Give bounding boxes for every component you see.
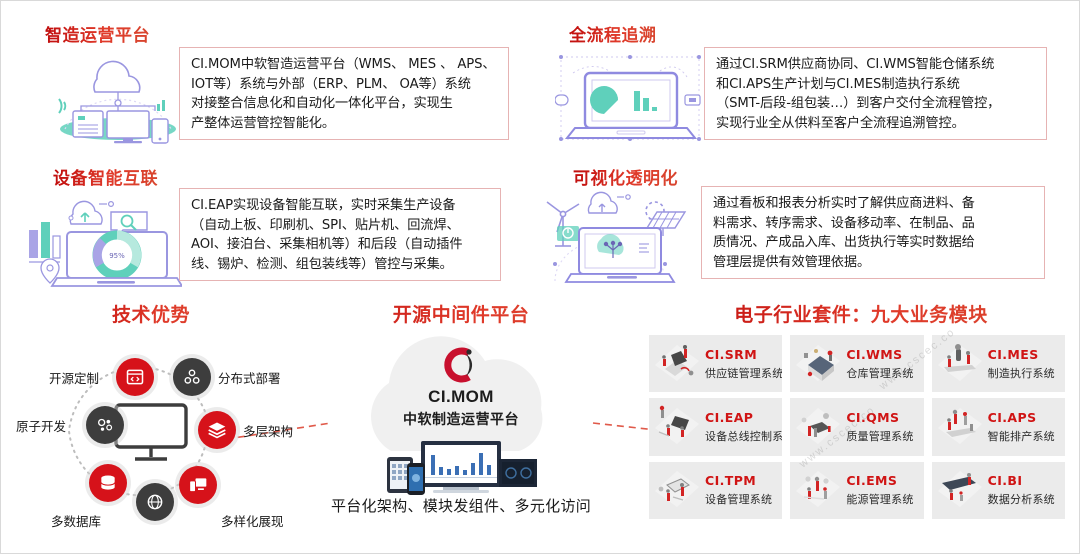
feature-text-line: 通过看板和报表分析实时了解供应商进料、备 <box>713 194 1035 214</box>
nodes-cluster-icon <box>182 367 202 387</box>
devices-mockup <box>381 431 541 503</box>
tech-node-diversified-presentation[interactable] <box>179 466 217 504</box>
module-code: CI.MES <box>988 347 1055 362</box>
tech-node-label: 分布式部署 <box>218 368 281 387</box>
module-card-ems[interactable]: CI.EMS 能源管理系统 <box>790 462 923 519</box>
tech-node-multi-database[interactable] <box>89 464 127 502</box>
feature-text-line: AOI、接泊台、采集相机等）和后段（自动插件 <box>191 235 491 255</box>
globe-icon <box>145 492 165 512</box>
middleware-cloud-block: CI.MOM 中软制造运营平台 <box>331 331 591 506</box>
module-name: 设备总线控制系统 <box>705 428 782 444</box>
bi-isometric-icon <box>934 465 986 515</box>
feature-text-line: 料需求、转序需求、设备移动率、在制品、品 <box>713 214 1035 234</box>
multidevice-icon <box>188 475 208 495</box>
module-code: CI.EMS <box>846 473 913 488</box>
feature-text-line: 和CI.APS生产计划与CI.MES制造执行系统 <box>716 75 1037 95</box>
laptop-piechart-illustration <box>555 49 705 149</box>
mes-isometric-icon <box>934 339 986 389</box>
feature-block-equipment-intelligent-interconnection: 设备智能互联 <box>1 156 541 301</box>
feature-text-line: 线、锡炉、检测、组包装线等）管控与采集。 <box>191 255 491 275</box>
cloud-devices-illustration <box>53 49 183 149</box>
module-code: CI.TPM <box>705 473 772 488</box>
module-code: CI.SRM <box>705 347 782 362</box>
module-name: 数据分析系统 <box>988 491 1055 507</box>
tech-node-opensource-customization[interactable] <box>116 358 154 396</box>
tech-node-distributed-deployment[interactable] <box>173 358 211 396</box>
energy-laptop-illustration <box>535 186 695 291</box>
laptop-donut-cloud-illustration: 95% <box>27 192 182 294</box>
module-card-tpm[interactable]: CI.TPM 设备管理系统 <box>649 462 782 519</box>
feature-text-line: 质情况、产成品入库、出货执行等实时数据给 <box>713 233 1035 253</box>
tech-node-label: 多层架构 <box>243 421 293 440</box>
module-grid: CI.SRM 供应链管理系统 CI.WMS 仓库管理系统 <box>649 335 1065 519</box>
brand-subtitle: 中软制造运营平台 <box>331 409 591 429</box>
module-card-mes[interactable]: CI.MES 制造执行系统 <box>932 335 1065 392</box>
feature-text-line: IOT等）系统与外部（ERP、PLM、 OA等）系统 <box>191 75 499 95</box>
module-name: 制造执行系统 <box>988 365 1055 381</box>
module-card-qms[interactable]: CI.QMS 质量管理系统 <box>790 398 923 455</box>
feature-text-line: （自动上板、印刷机、SPI、贴片机、回流焊、 <box>191 216 491 236</box>
feature-title: 全流程追溯 <box>569 21 657 46</box>
module-name: 智能排产系统 <box>988 428 1055 444</box>
middleware-caption: 平台化架构、模块发组件、多元化访问 <box>301 495 621 516</box>
feature-text-line: （SMT-后段-组包装…）到客户交付全流程管控， <box>716 94 1037 114</box>
module-card-aps[interactable]: CI.APS 智能排产系统 <box>932 398 1065 455</box>
feature-text-line: 实现行业全从供料至客户全流程追溯管控。 <box>716 114 1037 134</box>
monitor-icon <box>113 403 189 465</box>
module-code: CI.QMS <box>846 410 913 425</box>
module-code: CI.EAP <box>705 410 782 425</box>
feature-title: 设备智能互联 <box>53 164 158 189</box>
feature-title: 智造运营平台 <box>45 21 150 46</box>
aps-isometric-icon <box>934 402 986 452</box>
feature-text-box: CI.MOM中软智造运营平台（WMS、 MES 、 APS、 IOT等）系统与外… <box>179 47 509 140</box>
ci-mom-logo <box>439 345 483 385</box>
qms-isometric-icon <box>792 402 844 452</box>
module-name: 仓库管理系统 <box>846 365 913 381</box>
tech-node-globe[interactable] <box>136 483 174 521</box>
svg-text:95%: 95% <box>109 252 125 260</box>
module-code: CI.BI <box>988 473 1055 488</box>
code-window-icon <box>125 367 145 387</box>
tech-node-multilayer-architecture[interactable] <box>198 411 236 449</box>
module-card-bi[interactable]: CI.BI 数据分析系统 <box>932 462 1065 519</box>
wms-isometric-icon <box>792 339 844 389</box>
atom-gears-icon <box>95 415 115 435</box>
tech-advantage-diagram: 开源定制 分布式部署 原子开发 <box>11 331 311 521</box>
feature-text-box: 通过CI.SRM供应商协同、CI.WMS智能仓储系统 和CI.APS生产计划与C… <box>704 47 1047 140</box>
feature-text-line: 通过CI.SRM供应商协同、CI.WMS智能仓储系统 <box>716 55 1037 75</box>
tech-node-atomic-development[interactable] <box>86 406 124 444</box>
tpm-isometric-icon <box>651 465 703 515</box>
feature-block-full-process-traceability: 全流程追溯 <box>541 1 1080 156</box>
feature-block-visualization-transparency: 可视化透明化 <box>541 156 1080 301</box>
layers-icon <box>207 420 227 440</box>
module-name: 设备管理系统 <box>705 491 772 507</box>
module-code: CI.APS <box>988 410 1055 425</box>
feature-text-box: CI.EAP实现设备智能互联，实时采集生产设备 （自动上板、印刷机、SPI、贴片… <box>179 188 501 281</box>
brand-name: CI.MOM <box>331 387 591 407</box>
feature-text-box: 通过看板和报表分析实时了解供应商进料、备 料需求、转序需求、设备移动率、在制品、… <box>701 186 1045 279</box>
tech-node-label: 开源定制 <box>49 368 99 387</box>
feature-text-line: CI.EAP实现设备智能互联，实时采集生产设备 <box>191 196 491 216</box>
tech-node-label: 原子开发 <box>16 416 66 435</box>
feature-text-line: 管理层提供有效管理依据。 <box>713 253 1035 273</box>
module-code: CI.WMS <box>846 347 913 362</box>
feature-text-line: 对接整合信息化和自动化一体化平台，实现生 <box>191 94 499 114</box>
feature-block-smart-manufacturing-platform: 智造运营平台 <box>1 1 541 156</box>
tech-node-label: 多样化展现 <box>221 511 284 530</box>
feature-text-line: 产整体运营管控智能化。 <box>191 114 499 134</box>
srm-isometric-icon <box>651 339 703 389</box>
module-name: 供应链管理系统 <box>705 365 782 381</box>
tech-node-label: 多数据库 <box>51 511 101 530</box>
database-icon <box>98 473 118 493</box>
eap-isometric-icon <box>651 402 703 452</box>
module-card-wms[interactable]: CI.WMS 仓库管理系统 <box>790 335 923 392</box>
module-name: 能源管理系统 <box>846 491 913 507</box>
module-name: 质量管理系统 <box>846 428 913 444</box>
module-card-srm[interactable]: CI.SRM 供应链管理系统 <box>649 335 782 392</box>
module-card-eap[interactable]: CI.EAP 设备总线控制系统 <box>649 398 782 455</box>
feature-text-line: CI.MOM中软智造运营平台（WMS、 MES 、 APS、 <box>191 55 499 75</box>
poster-root: 智造运营平台 <box>0 0 1080 554</box>
ems-isometric-icon <box>792 465 844 515</box>
